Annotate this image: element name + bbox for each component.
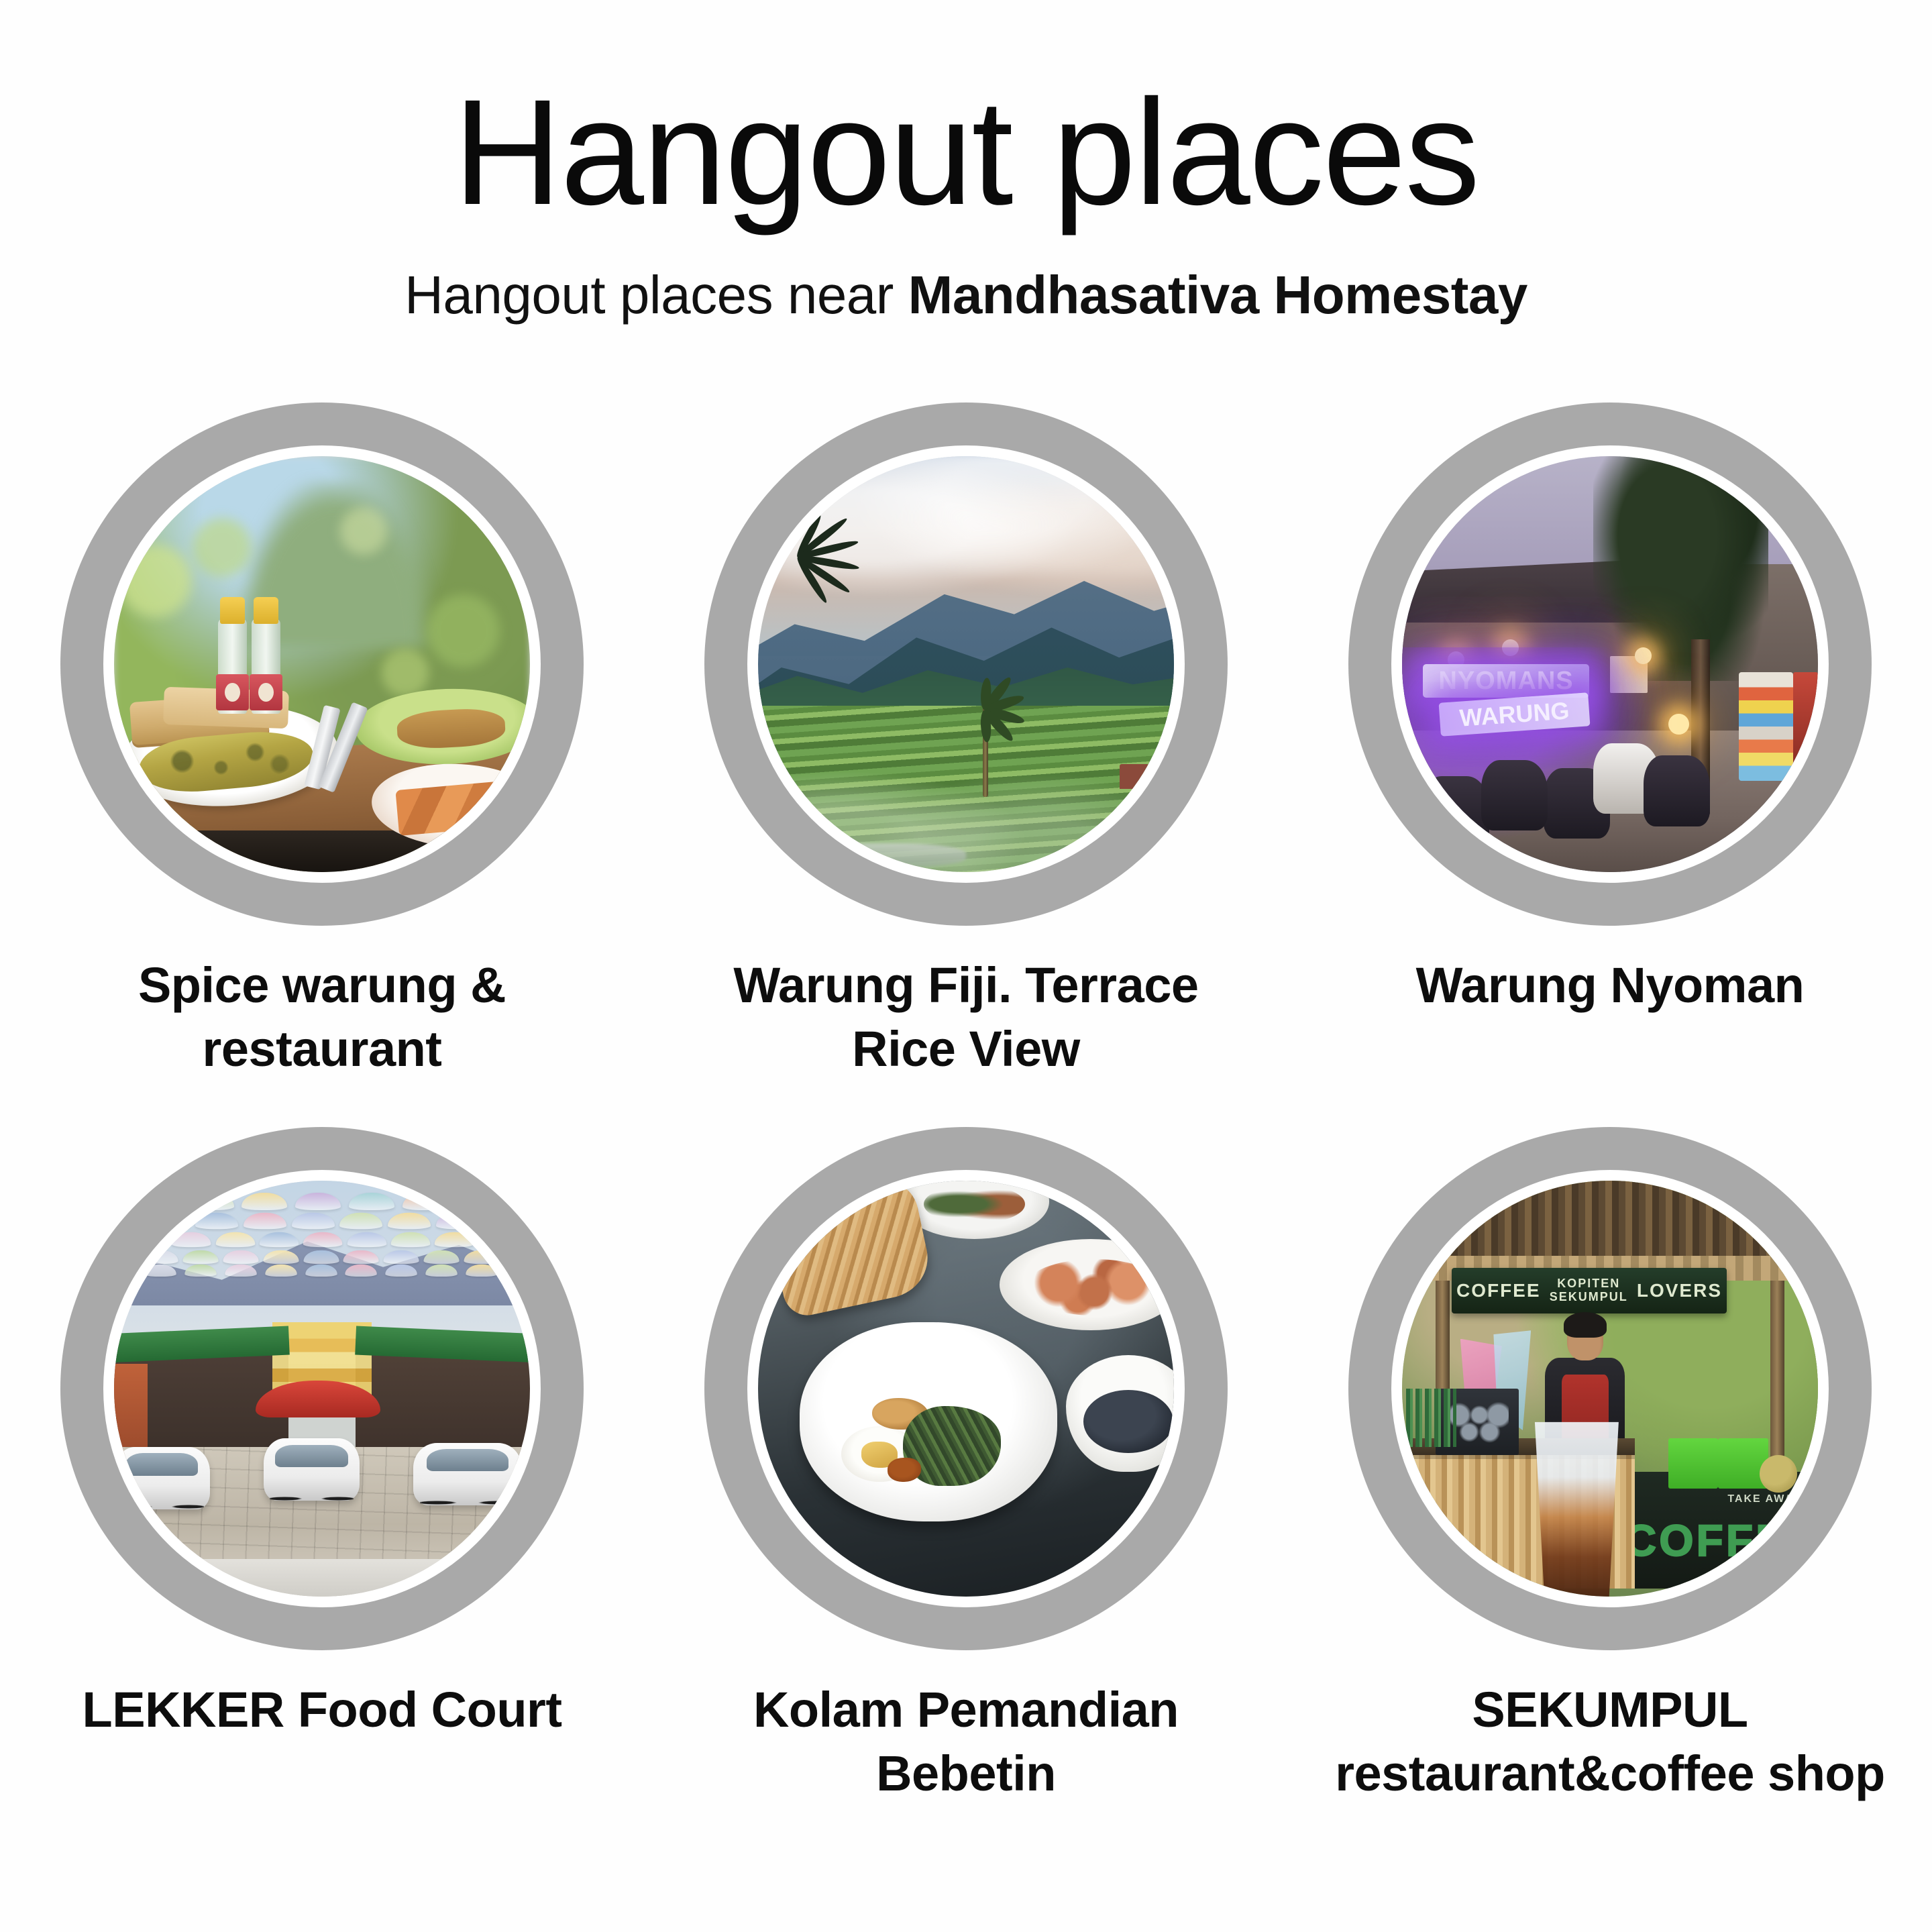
photo-scene — [114, 1181, 530, 1597]
hanging-umbrella — [386, 1265, 418, 1277]
sign-logo-line-1: KOPITEN — [1557, 1277, 1620, 1290]
coffee-lovers-signboard: COFFEE KOPITEN SEKUMPUL LOVERS — [1452, 1268, 1726, 1313]
center-palm-tree — [932, 672, 1040, 797]
hanging-umbrella — [128, 1232, 168, 1247]
parked-car — [264, 1438, 360, 1501]
place-card-kolam-pemandian-bebetin[interactable]: Kolam Pemandian Bebetin — [644, 1127, 1288, 1851]
place-card-lekker-food-court[interactable]: LEKKER Food Court — [0, 1127, 644, 1851]
place-caption: Kolam Pemandian Bebetin — [691, 1678, 1241, 1805]
hanging-umbrella — [464, 1250, 500, 1264]
hanging-umbrella — [182, 1250, 218, 1264]
krupuk-pile — [1025, 1259, 1164, 1316]
neon-sign-line-1: NYOMANS — [1423, 664, 1589, 698]
hanging-umbrella — [484, 1212, 527, 1228]
page-subtitle: Hangout places near Mandhasativa Homesta… — [0, 264, 1932, 326]
field-hut — [1120, 764, 1148, 789]
corrugated-roof — [1402, 1181, 1818, 1264]
bottle-row — [1406, 1389, 1456, 1447]
sign-logo-text: KOPITEN SEKUMPUL — [1550, 1277, 1628, 1304]
page-subtitle-prefix: Hangout places near — [405, 265, 908, 325]
photo-ring: NYOMANS WARUNG — [1348, 402, 1872, 926]
warm-lamp — [1668, 714, 1689, 735]
hanging-umbrella — [144, 1265, 176, 1277]
page-title: Hangout places — [0, 79, 1932, 227]
photo-scene — [758, 1181, 1174, 1597]
bottle-cap — [220, 597, 244, 624]
hanging-umbrella — [292, 1212, 335, 1228]
hanging-umbrella — [339, 1212, 382, 1228]
hanging-umbrella — [114, 1232, 123, 1247]
photo-scene — [758, 456, 1174, 872]
hanging-umbrella — [388, 1212, 431, 1228]
poster-header: Hangout places Hangout places near Mandh… — [0, 0, 1932, 326]
flooded-paddy — [783, 843, 966, 868]
take-away-text: TAKE AWAY — [1727, 1493, 1801, 1505]
place-photo-kolam-pemandian-bebetin — [758, 1181, 1174, 1597]
hanging-umbrella — [426, 1265, 458, 1277]
hanging-umbrella — [195, 1212, 238, 1228]
parked-motorbike — [1644, 755, 1710, 826]
hanging-umbrella — [436, 1212, 479, 1228]
hanging-umbrella — [347, 1232, 386, 1247]
hanging-umbrella — [349, 1193, 394, 1210]
bottle-label — [216, 674, 249, 710]
coconut — [1760, 1455, 1797, 1493]
road-strip — [114, 1559, 530, 1597]
hanging-umbrella — [142, 1250, 178, 1264]
place-caption: Warung Fiji. Terrace Rice View — [691, 954, 1241, 1081]
parked-motorbike — [1423, 776, 1489, 847]
hanging-umbrella — [343, 1250, 379, 1264]
counter-coffee-text: COFFEE — [1618, 1509, 1818, 1572]
place-photo-warung-fiji-terrace-rice-view — [758, 456, 1174, 872]
hangout-places-poster: Hangout places Hangout places near Mandh… — [0, 0, 1932, 1932]
hanging-umbrella — [184, 1265, 217, 1277]
hanging-umbrella — [424, 1250, 460, 1264]
photo-scene — [114, 456, 530, 872]
place-card-warung-nyoman[interactable]: NYOMANS WARUNG Warung Nyoman — [1288, 402, 1932, 1127]
hanging-umbrella — [345, 1265, 378, 1277]
hanging-umbrella — [134, 1193, 180, 1210]
barista-hair — [1564, 1312, 1607, 1338]
sambal — [888, 1458, 921, 1482]
photo-ring — [60, 1127, 584, 1650]
place-card-warung-fiji-terrace-rice-view[interactable]: Warung Fiji. Terrace Rice View — [644, 402, 1288, 1127]
hanging-umbrella — [172, 1232, 211, 1247]
green-crate — [1668, 1438, 1718, 1488]
hanging-umbrella — [188, 1193, 233, 1210]
photo-ring — [60, 402, 584, 926]
hanging-umbrella — [260, 1232, 299, 1247]
photo-ring: COFFEE KOPITEN SEKUMPUL LOVERS COFFEE TA… — [1348, 1127, 1872, 1650]
place-caption: Warung Nyoman — [1335, 954, 1885, 1018]
place-caption: LEKKER Food Court — [47, 1678, 597, 1742]
colorful-standing-banner — [1739, 672, 1793, 780]
photo-scene: COFFEE KOPITEN SEKUMPUL LOVERS COFFEE TA… — [1402, 1181, 1818, 1597]
hanging-umbrella — [295, 1193, 341, 1210]
place-photo-sekumpul-restaurant-coffee-shop: COFFEE KOPITEN SEKUMPUL LOVERS COFFEE TA… — [1402, 1181, 1818, 1597]
hanging-umbrella — [504, 1250, 530, 1264]
place-card-spice-warung-restaurant[interactable]: Spice warung & restaurant — [0, 402, 644, 1127]
hanging-umbrella — [506, 1265, 530, 1277]
parked-motorbike — [1481, 760, 1548, 830]
place-caption: Spice warung & restaurant — [47, 954, 597, 1081]
sign-text-left: COFFEE — [1456, 1280, 1541, 1301]
red-vertical-sign — [1793, 672, 1818, 763]
hanging-umbrella — [114, 1193, 127, 1210]
place-caption: SEKUMPUL restaurant&coffee shop — [1335, 1678, 1885, 1805]
hanging-umbrella — [510, 1193, 530, 1210]
hanging-umbrella — [435, 1232, 474, 1247]
sauce-bottle — [252, 619, 280, 714]
photo-ring — [704, 402, 1228, 926]
orange-wall — [114, 1364, 148, 1455]
hanging-umbrella — [241, 1193, 287, 1210]
hanging-umbrella — [479, 1232, 519, 1247]
hanging-umbrella — [303, 1250, 339, 1264]
parked-car — [413, 1443, 521, 1505]
hanging-umbrella — [523, 1232, 530, 1247]
place-photo-spice-warung-restaurant — [114, 456, 530, 872]
hanging-umbrella — [244, 1212, 286, 1228]
homestay-name: Mandhasativa Homestay — [908, 265, 1527, 325]
hanging-umbrella — [147, 1212, 190, 1228]
hanging-umbrella — [114, 1265, 136, 1277]
hanging-umbrella — [223, 1250, 258, 1264]
place-photo-warung-nyoman: NYOMANS WARUNG — [1402, 456, 1818, 872]
main-plate — [800, 1322, 1057, 1522]
sign-text-right: LOVERS — [1637, 1280, 1722, 1301]
dark-soup — [1083, 1390, 1173, 1453]
bottle-label — [250, 674, 282, 710]
bottle-cap — [254, 597, 278, 624]
espresso-text: ESPRESSO — [1697, 1578, 1760, 1589]
place-photo-lekker-food-court — [114, 1181, 530, 1597]
photo-scene: NYOMANS WARUNG — [1402, 456, 1818, 872]
hanging-umbrella — [114, 1250, 138, 1264]
hanging-umbrella — [303, 1232, 343, 1247]
place-card-sekumpul-restaurant-coffee-shop[interactable]: COFFEE KOPITEN SEKUMPUL LOVERS COFFEE TA… — [1288, 1127, 1932, 1851]
hanging-umbrella — [265, 1265, 297, 1277]
hanging-umbrella — [402, 1193, 448, 1210]
hanging-umbrella — [263, 1250, 299, 1264]
parked-car — [114, 1447, 210, 1509]
back-plate-food — [924, 1185, 1026, 1224]
photo-ring — [704, 1127, 1228, 1650]
sign-logo-line-2: SEKUMPUL — [1550, 1290, 1628, 1303]
hanging-umbrella — [456, 1193, 502, 1210]
krupuk-plate — [1000, 1239, 1174, 1330]
hanging-umbrella — [225, 1265, 257, 1277]
hanging-umbrella — [114, 1212, 142, 1228]
hanging-umbrella — [384, 1250, 419, 1264]
hanging-umbrella — [391, 1232, 431, 1247]
sauce-bottle — [218, 619, 247, 714]
places-grid: Spice warung & restaurant — [0, 402, 1932, 1851]
hanging-umbrella — [215, 1232, 255, 1247]
hanging-umbrella — [466, 1265, 498, 1277]
foreground-palm-fronds — [758, 515, 891, 623]
hanging-umbrella — [305, 1265, 337, 1277]
